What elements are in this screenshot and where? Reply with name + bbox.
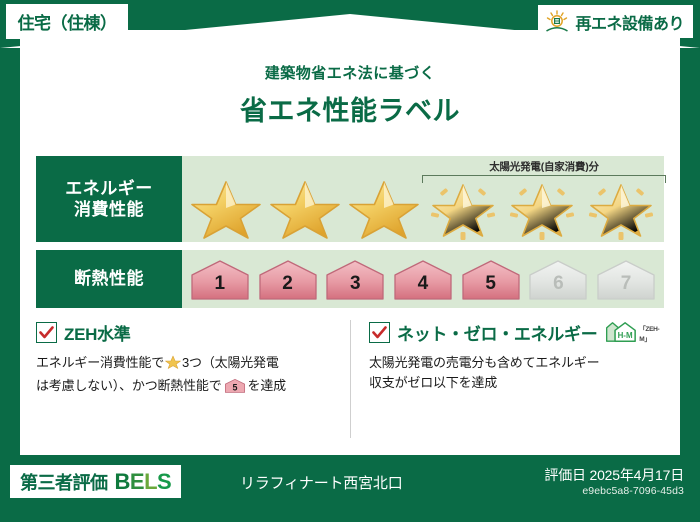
solar-annotation-label: 太陽光発電(自家消費)分 — [422, 159, 666, 174]
zeh-checkbox[interactable] — [36, 322, 57, 343]
inline-star-icon — [165, 354, 181, 376]
insulation-badge-3: 3 — [323, 255, 387, 303]
renewable-energy-label: 再エネ設備あり — [575, 10, 684, 34]
insulation-badge-7: 7 — [594, 255, 658, 303]
evaluation-date: 評価日 2025年4月17日 — [544, 465, 684, 485]
zeh-desc-part1: エネルギー消費性能で — [36, 355, 164, 370]
third-party-label: 第三者評価 — [20, 469, 108, 495]
net-zero-heading: ネット・ゼロ・エネルギー H-M 「ZEH-M」 — [369, 320, 654, 344]
insulation-badge-3-value: 3 — [350, 273, 361, 303]
star-1-solid — [190, 178, 262, 240]
zeh-m-caption: 「ZEH-M」 — [639, 323, 665, 345]
star-3-solid — [348, 178, 420, 240]
label-card: 建築物省エネ法に基づく 省エネ性能ラベル エネルギー 消費性能 太陽光発電(自家… — [20, 30, 680, 455]
building-type-label: 住宅（住棟） — [18, 9, 117, 34]
criteria-zeh: ZEH水準 エネルギー消費性能で3つ（太陽光発電は考慮しない）、かつ断熱性能で5… — [36, 320, 350, 438]
net-zero-desc-line1: 太陽光発電の売電分も含めてエネルギー — [369, 355, 599, 370]
check-icon — [39, 326, 54, 339]
svg-text:H-M: H-M — [618, 331, 633, 340]
insulation-badge-1-value: 1 — [215, 273, 226, 303]
svg-text:5: 5 — [232, 383, 237, 393]
star-4-sparkle — [427, 178, 499, 240]
insulation-performance-row: 断熱性能 — [36, 250, 664, 308]
solar-sun-icon — [544, 10, 570, 34]
footer-band: 第三者評価 BELS リラフィナート西宮北口 評価日 2025年4月17日 e9… — [0, 455, 700, 522]
zeh-desc-part3: を達成 — [248, 378, 286, 393]
energy-performance-row: エネルギー 消費性能 太陽光発電(自家消費)分 — [36, 156, 664, 242]
insulation-badge-5-value: 5 — [485, 273, 496, 303]
insulation-badge-6: 6 — [526, 255, 590, 303]
zeh-desc-part2: は考慮しない）、かつ断熱性能で — [36, 378, 222, 393]
star-6-sparkle — [585, 178, 657, 240]
building-type-tag: 住宅（住棟） — [6, 4, 128, 39]
zeh-title: ZEH水準 — [64, 320, 131, 345]
net-zero-checkbox[interactable] — [369, 322, 390, 343]
renewable-energy-tag: 再エネ設備あり — [538, 5, 693, 38]
criteria-section: ZEH水準 エネルギー消費性能で3つ（太陽光発電は考慮しない）、かつ断熱性能で5… — [36, 320, 664, 438]
insulation-label-text: 断熱性能 — [74, 268, 144, 289]
energy-label-line2: 消費性能 — [74, 199, 144, 220]
star-2-solid — [269, 178, 341, 240]
insulation-badge-1: 1 — [188, 255, 252, 303]
net-zero-title: ネット・ゼロ・エネルギー — [397, 320, 597, 345]
zeh-desc-star-count: 3つ（太陽光発電 — [182, 355, 279, 370]
title-block: 建築物省エネ法に基づく 省エネ性能ラベル — [20, 62, 680, 128]
bels-letter-e: E — [130, 469, 144, 494]
bels-certification-tag: 第三者評価 BELS — [10, 465, 181, 498]
zeh-m-icon: H-M 「ZEH-M」 — [605, 319, 665, 345]
insulation-badge-7-value: 7 — [621, 273, 632, 303]
zeh-heading: ZEH水準 — [36, 320, 340, 344]
page-title: 省エネ性能ラベル — [20, 89, 680, 128]
net-zero-desc-line2: 収支がゼロ以下を達成 — [369, 375, 497, 390]
insulation-badge-5: 5 — [459, 255, 523, 303]
evaluation-id: e9ebc5a8-7096-45d3 — [582, 485, 684, 497]
insulation-badge-2: 2 — [256, 255, 320, 303]
criteria-net-zero: ネット・ゼロ・エネルギー H-M 「ZEH-M」 太陽光発電の売電分も含めてエネ… — [350, 320, 664, 438]
title-subtitle: 建築物省エネ法に基づく — [20, 62, 680, 83]
insulation-badge-scale: 1 2 3 — [182, 250, 664, 308]
bels-letter-l: L — [144, 469, 157, 494]
energy-performance-label: エネルギー 消費性能 — [36, 156, 182, 242]
inline-insulation-badge: 5 — [224, 377, 246, 400]
insulation-badge-4-value: 4 — [418, 273, 429, 303]
energy-label-line1: エネルギー — [65, 178, 153, 199]
star-rating — [182, 178, 664, 240]
insulation-performance-panel: 1 2 3 — [182, 250, 664, 308]
zeh-description: エネルギー消費性能で3つ（太陽光発電は考慮しない）、かつ断熱性能で5を達成 — [36, 353, 340, 400]
star-5-sparkle — [506, 178, 578, 240]
property-name: リラフィナート西宮北口 — [240, 472, 403, 493]
insulation-performance-label: 断熱性能 — [36, 250, 182, 308]
insulation-badge-2-value: 2 — [282, 273, 293, 303]
net-zero-description: 太陽光発電の売電分も含めてエネルギー収支がゼロ以下を達成 — [369, 353, 654, 393]
bels-letter-s: S — [157, 469, 171, 494]
insulation-badge-4: 4 — [391, 255, 455, 303]
insulation-badge-6-value: 6 — [553, 273, 564, 303]
bels-logo: BELS — [115, 469, 172, 495]
check-icon — [372, 326, 387, 339]
energy-performance-panel: 太陽光発電(自家消費)分 — [182, 156, 664, 242]
bels-letter-b: B — [115, 469, 130, 494]
energy-performance-label: 住宅（住棟） 再エネ設備あり 建築物省エネ法に基づく 省エネ性能ラベル — [0, 0, 700, 522]
